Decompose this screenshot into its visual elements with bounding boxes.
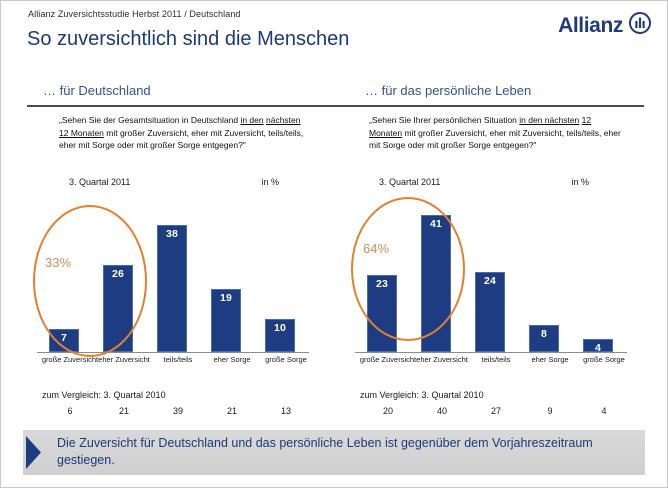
bar[interactable]: 24 xyxy=(475,272,505,352)
x-axis-line xyxy=(355,352,627,353)
bar-slot: 26 xyxy=(91,265,145,352)
bar[interactable]: 10 xyxy=(265,319,295,352)
slide-kicker: Allianz Zuversichtsstudie Herbst 2011 / … xyxy=(28,9,241,19)
bar-slot: 23 xyxy=(355,275,409,352)
bar[interactable]: 38 xyxy=(157,225,187,352)
plot-area: 23412484 xyxy=(349,197,649,353)
bar-value-label: 24 xyxy=(476,275,504,287)
x-axis-category-labels: große Zuversichteher Zuversichtteils/tei… xyxy=(37,355,309,385)
right-arrow-icon xyxy=(23,430,45,480)
x-axis-category-label: große Zuversicht xyxy=(41,355,99,365)
x-axis-category-label: große Zuversicht xyxy=(359,355,417,365)
comparison-values-personal: 20402794 xyxy=(355,406,627,420)
bar[interactable]: 19 xyxy=(211,289,241,352)
x-axis-category-label: teils/teils xyxy=(467,355,525,365)
bar[interactable]: 41 xyxy=(421,215,451,352)
comparison-label-personal: zum Vergleich: 3. Quartal 2010 xyxy=(360,390,484,400)
comparison-value: 13 xyxy=(257,406,315,416)
x-axis-category-label: große Sorge xyxy=(575,355,633,365)
header-divider xyxy=(27,105,644,107)
summary-banner: Die Zuversicht für Deutschland und das p… xyxy=(23,430,645,475)
bar-slot: 4 xyxy=(571,339,625,352)
bar-value-label: 7 xyxy=(50,332,78,344)
comparison-value: 20 xyxy=(359,406,417,416)
bar-chart-personal: 23412484 große Zuversichteher Zuversicht… xyxy=(349,197,649,357)
x-axis-category-label: große Sorge xyxy=(257,355,315,365)
summary-banner-text: Die Zuversicht für Deutschland und das p… xyxy=(57,435,637,469)
x-axis-category-labels: große Zuversichteher Zuversichtteils/tei… xyxy=(355,355,627,385)
bar-value-label: 10 xyxy=(266,322,294,334)
bar-value-label: 19 xyxy=(212,292,240,304)
x-axis-category-label: eher Sorge xyxy=(521,355,579,365)
comparison-value: 27 xyxy=(467,406,525,416)
chart-period-label: 3. Quartal 2011 xyxy=(69,177,130,187)
comparison-value: 6 xyxy=(41,406,99,416)
highlight-percentage-label: 64% xyxy=(363,241,389,256)
bar[interactable]: 7 xyxy=(49,329,79,352)
x-axis-category-label: eher Zuversicht xyxy=(95,355,153,365)
comparison-value: 9 xyxy=(521,406,579,416)
chart-unit-label: in % xyxy=(261,177,279,187)
comparison-value: 21 xyxy=(95,406,153,416)
comparison-values-germany: 621392113 xyxy=(37,406,309,420)
comparison-value: 4 xyxy=(575,406,633,416)
chart-meta-personal: 3. Quartal 2011 in % xyxy=(379,177,589,187)
chart-period-label: 3. Quartal 2011 xyxy=(379,177,440,187)
x-axis-line xyxy=(37,352,309,353)
question-text-germany: „Sehen Sie der Gesamtsituation in Deutsc… xyxy=(59,114,309,152)
chart-unit-label: in % xyxy=(571,177,589,187)
page-title: So zuversichtlich sind die Menschen xyxy=(27,28,349,51)
question-underline-1: in den nächsten xyxy=(519,115,579,125)
column-heading-germany: … für Deutschland xyxy=(43,83,151,98)
bar-chart-germany: 726381910 große Zuversichteher Zuversich… xyxy=(31,197,331,357)
allianz-circle-bars-icon xyxy=(629,12,651,39)
question-text-personal: „Sehen Sie Ihrer persönlichen Situation … xyxy=(369,114,625,152)
logo-wordmark: Allianz xyxy=(558,15,623,36)
x-axis-category-label: eher Sorge xyxy=(203,355,261,365)
bar-value-label: 23 xyxy=(368,278,396,290)
bar-slot: 38 xyxy=(145,225,199,352)
x-axis-category-label: teils/teils xyxy=(149,355,207,365)
question-underline-1: in den xyxy=(240,115,263,125)
bar[interactable]: 23 xyxy=(367,275,397,352)
bar[interactable]: 4 xyxy=(583,339,613,352)
bar-slot: 8 xyxy=(517,325,571,352)
bar-slot: 19 xyxy=(199,289,253,352)
bar[interactable]: 26 xyxy=(103,265,133,352)
bar-value-label: 41 xyxy=(422,218,450,230)
bar-slot: 41 xyxy=(409,215,463,352)
bar-value-label: 8 xyxy=(530,328,558,340)
bar-slot: 24 xyxy=(463,272,517,352)
bar-value-label: 26 xyxy=(104,268,132,280)
question-part-rest: mit großer Zuversicht, eher mit Zuversic… xyxy=(369,128,621,151)
bar-slot: 7 xyxy=(37,329,91,352)
bar-slot: 10 xyxy=(253,319,307,352)
x-axis-category-label: eher Zuversicht xyxy=(413,355,471,365)
highlight-percentage-label: 33% xyxy=(45,255,71,270)
comparison-value: 39 xyxy=(149,406,207,416)
bar[interactable]: 8 xyxy=(529,325,559,352)
comparison-value: 21 xyxy=(203,406,261,416)
bar-value-label: 38 xyxy=(158,228,186,240)
comparison-value: 40 xyxy=(413,406,471,416)
plot-area: 726381910 xyxy=(31,197,331,353)
column-heading-personal: … für das persönliche Leben xyxy=(365,83,531,98)
chart-meta-germany: 3. Quartal 2011 in % xyxy=(69,177,279,187)
question-part-1: „Sehen Sie der Gesamtsituation in Deutsc… xyxy=(59,115,240,125)
question-part-1: „Sehen Sie Ihrer persönlichen Situation xyxy=(369,115,519,125)
comparison-label-germany: zum Vergleich: 3. Quartal 2010 xyxy=(42,390,166,400)
allianz-logo: Allianz xyxy=(558,12,651,39)
slide-root: Allianz Zuversichtsstudie Herbst 2011 / … xyxy=(0,0,668,488)
